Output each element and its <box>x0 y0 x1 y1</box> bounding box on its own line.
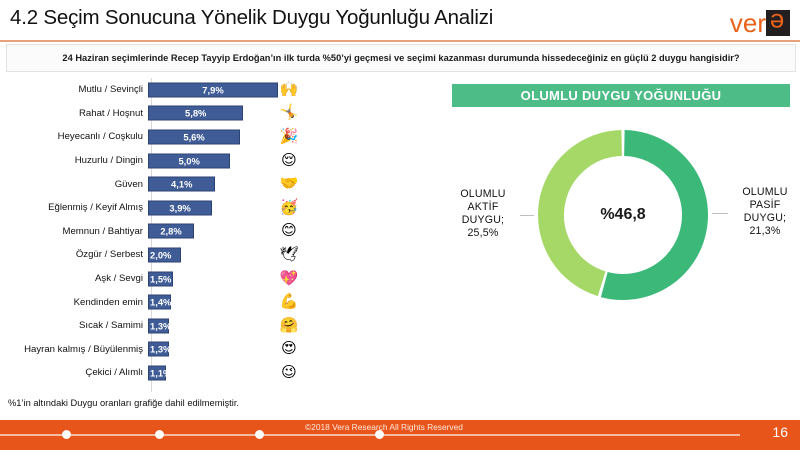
bar-value-label: 7,9% <box>202 84 223 95</box>
bar: 3,9% <box>148 200 212 215</box>
title-divider <box>0 40 800 42</box>
free-person-icon: 🕊 <box>278 244 300 266</box>
relaxed-person-icon: 🤸 <box>278 102 300 124</box>
leader-line-left <box>520 215 534 216</box>
bar-category-label: Eğlenmiş / Keyif Almış <box>0 202 148 213</box>
calm-person-icon: 😌 <box>278 150 300 172</box>
panel-header-banner: OLUMLU DUYGU YOĞUNLUĞU <box>452 84 790 107</box>
bar-value-label: 5,6% <box>183 131 204 142</box>
bar-chart-row: Mutlu / Sevinçli7,9%🙌 <box>0 78 420 102</box>
bar-value-label: 1,3% <box>150 344 171 355</box>
excited-person-icon: 🎉 <box>278 126 300 148</box>
bar-value-label: 1,4% <box>150 297 171 308</box>
bar-category-label: Memnun / Bahtiyar <box>0 226 148 237</box>
question-bar: 24 Haziran seçimlerinde Recep Tayyip Erd… <box>6 44 796 72</box>
bar-track: 1,1%😉 <box>148 361 420 385</box>
confident-person-icon: 💪 <box>278 291 300 313</box>
donut-label-line: DUYGU; <box>444 214 522 227</box>
bar: 5,8% <box>148 106 243 121</box>
donut-label-line: 21,3% <box>730 225 800 238</box>
donut-label-line: OLUMLU <box>444 188 522 201</box>
bar: 1,3% <box>148 342 169 357</box>
bar-value-label: 4,1% <box>171 179 192 190</box>
bar-category-label: Sıcak / Samimi <box>0 320 148 331</box>
bar-value-label: 3,9% <box>169 202 190 213</box>
bar-value-label: 1,3% <box>150 320 171 331</box>
vera-logo: ver e <box>694 8 790 40</box>
handshake-trust-icon: 🤝 <box>278 173 300 195</box>
bar-value-label: 1,1% <box>150 367 171 378</box>
positive-emotion-panel: OLUMLU DUYGU YOĞUNLUĞU %46,8 OLUMLUAKTİF… <box>440 78 800 398</box>
bar-category-label: Huzurlu / Dingin <box>0 155 148 166</box>
bar-track: 2,8%😊 <box>148 220 420 244</box>
leader-line-right <box>712 213 728 214</box>
content-person-icon: 😊 <box>278 220 300 242</box>
bar: 1,4% <box>148 295 171 310</box>
bar-category-label: Kendinden emin <box>0 297 148 308</box>
bar-value-label: 1,5% <box>150 273 171 284</box>
warm-person-icon: 🤗 <box>278 315 300 337</box>
celebrating-person-icon: 🥳 <box>278 197 300 219</box>
page-title: 4.2 Seçim Sonucuna Yönelik Duygu Yoğunlu… <box>10 6 493 30</box>
question-text: 24 Haziran seçimlerinde Recep Tayyip Erd… <box>62 53 739 63</box>
footer-dot <box>155 430 164 439</box>
bar-chart-row: Huzurlu / Dingin5,0%😌 <box>0 149 420 173</box>
bar: 1,1% <box>148 365 166 380</box>
bar: 5,6% <box>148 129 240 144</box>
bar-chart-row: Çekici / Alımlı1,1%😉 <box>0 361 420 385</box>
bar-track: 5,6%🎉 <box>148 125 420 149</box>
footer-line <box>0 434 740 436</box>
cheering-person-icon: 🙌 <box>278 79 300 101</box>
love-person-icon: 💖 <box>278 268 300 290</box>
donut-label-line: 25,5% <box>444 227 522 240</box>
bar-chart-row: Özgür / Serbest2,0%🕊 <box>0 243 420 267</box>
donut-label-passive: OLUMLUPASİFDUYGU;21,3% <box>730 186 800 238</box>
chart-footnote: %1’in altındaki Duygu oranları grafiğe d… <box>8 398 239 408</box>
bar-track: 2,0%🕊 <box>148 243 420 267</box>
panel-header-label: OLUMLU DUYGU YOĞUNLUĞU <box>521 88 722 103</box>
bar-category-label: Güven <box>0 179 148 190</box>
bar: 2,0% <box>148 247 181 262</box>
copyright-text: ©2018 Vera Research All Rights Reserved <box>305 422 463 432</box>
bar-chart-row: Güven4,1%🤝 <box>0 172 420 196</box>
bar-category-label: Özgür / Serbest <box>0 249 148 260</box>
bar-chart-row: Kendinden emin1,4%💪 <box>0 290 420 314</box>
bar-track: 1,4%💪 <box>148 290 420 314</box>
bar-category-label: Mutlu / Sevinçli <box>0 84 148 95</box>
donut-label-line: DUYGU; <box>730 212 800 225</box>
footer-dot <box>255 430 264 439</box>
bar-category-label: Hayran kalmış / Büyülenmiş <box>0 344 148 355</box>
bar-track: 7,9%🙌 <box>148 78 420 102</box>
bar: 1,5% <box>148 271 173 286</box>
logo-schwa-glyph: e <box>766 9 788 37</box>
bar-track: 1,5%💖 <box>148 267 420 291</box>
donut-center-value: %46,8 <box>528 120 718 310</box>
bar-chart-row: Sıcak / Samimi1,3%🤗 <box>0 314 420 338</box>
bar-chart-row: Hayran kalmış / Büyülenmiş1,3%😍 <box>0 338 420 362</box>
bar-track: 3,9%🥳 <box>148 196 420 220</box>
donut-label-line: PASİF <box>730 199 800 212</box>
bar-track: 1,3%😍 <box>148 338 420 362</box>
bar: 5,0% <box>148 153 230 168</box>
bar-track: 4,1%🤝 <box>148 172 420 196</box>
bar: 2,8% <box>148 224 194 239</box>
donut-label-line: AKTİF <box>444 201 522 214</box>
donut-label-active: OLUMLUAKTİFDUYGU;25,5% <box>444 188 522 240</box>
bar-value-label: 2,0% <box>150 249 171 260</box>
bar-chart-row: Eğlenmiş / Keyif Almış3,9%🥳 <box>0 196 420 220</box>
bar-track: 5,0%😌 <box>148 149 420 173</box>
admiring-person-icon: 😍 <box>278 338 300 360</box>
bar-category-label: Rahat / Hoşnut <box>0 108 148 119</box>
bar-track: 5,8%🤸 <box>148 102 420 126</box>
donut-label-line: OLUMLU <box>730 186 800 199</box>
bar-chart: Mutlu / Sevinçli7,9%🙌Rahat / Hoşnut5,8%🤸… <box>0 78 420 398</box>
bar-chart-row: Aşk / Sevgi1,5%💖 <box>0 267 420 291</box>
bar: 7,9% <box>148 82 278 97</box>
page-number: 16 <box>772 424 788 440</box>
bar-category-label: Heyecanlı / Coşkulu <box>0 131 148 142</box>
slide-canvas: 4.2 Seçim Sonucuna Yönelik Duygu Yoğunlu… <box>0 0 800 450</box>
attractive-person-icon: 😉 <box>278 362 300 384</box>
bar-value-label: 2,8% <box>160 226 181 237</box>
bar-chart-row: Memnun / Bahtiyar2,8%😊 <box>0 220 420 244</box>
bar: 4,1% <box>148 177 215 192</box>
bar-value-label: 5,0% <box>178 155 199 166</box>
footer-dot <box>375 430 384 439</box>
bar-category-label: Çekici / Alımlı <box>0 367 148 378</box>
bar-track: 1,3%🤗 <box>148 314 420 338</box>
bar-category-label: Aşk / Sevgi <box>0 273 148 284</box>
logo-wordmark: ver <box>730 8 766 38</box>
footer-dot <box>62 430 71 439</box>
bar: 1,3% <box>148 318 169 333</box>
bar-value-label: 5,8% <box>185 108 206 119</box>
bar-chart-row: Heyecanlı / Coşkulu5,6%🎉 <box>0 125 420 149</box>
bar-chart-row: Rahat / Hoşnut5,8%🤸 <box>0 102 420 126</box>
